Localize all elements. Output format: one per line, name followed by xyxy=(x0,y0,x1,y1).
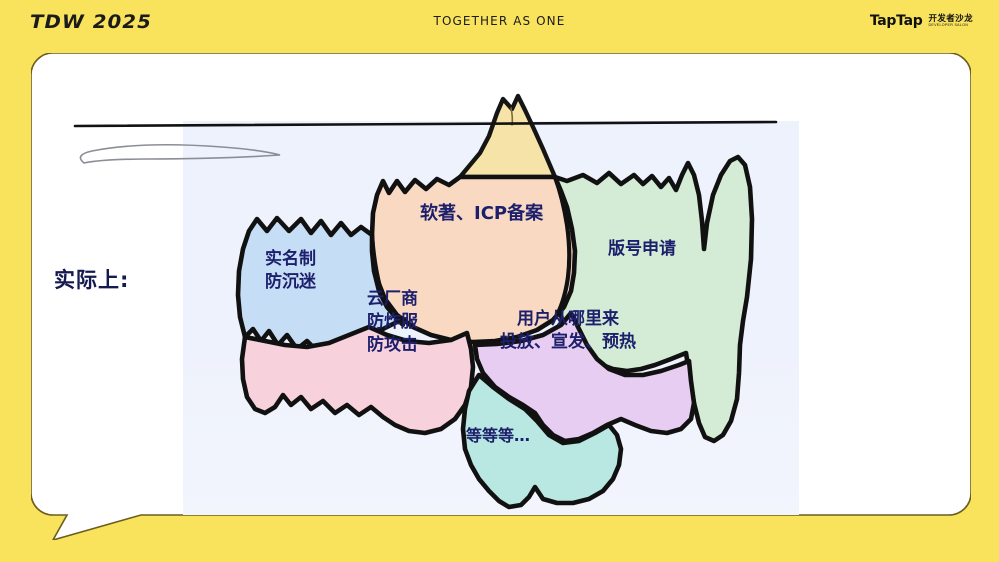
top-bar: TDW 2025 TOGETHER AS ONE TapTap 开发者沙龙 DE… xyxy=(0,0,999,45)
brand-lockup: TapTap 开发者沙龙 DEVELOPER SALON xyxy=(870,13,973,29)
brand-sub: 开发者沙龙 DEVELOPER SALON xyxy=(928,14,973,28)
slide-card xyxy=(31,53,971,540)
taptap-logo: TapTap xyxy=(870,13,923,29)
event-slogan: TOGETHER AS ONE xyxy=(0,14,999,28)
brand-sub-en: DEVELOPER SALON xyxy=(928,24,973,28)
brand-sub-cn: 开发者沙龙 xyxy=(928,14,973,23)
slide-root: TDW 2025 TOGETHER AS ONE TapTap 开发者沙龙 DE… xyxy=(0,0,999,562)
page-title: 实际上: xyxy=(54,264,129,294)
region-peach xyxy=(372,177,575,342)
